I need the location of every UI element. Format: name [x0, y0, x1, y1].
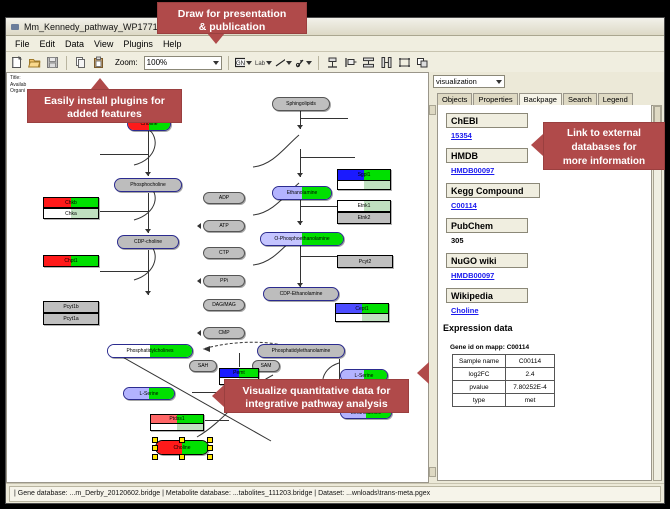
callout-draw-line1: Draw for presentation	[166, 8, 298, 21]
node-sgpl1[interactable]: Sgpl1	[337, 169, 391, 181]
selection-handle[interactable]	[207, 437, 213, 443]
node-l-serine-left[interactable]: L-Serine	[123, 387, 175, 400]
node-fill-right	[362, 314, 388, 321]
table-row: Sample name C00114	[453, 355, 555, 368]
cell-key: pvalue	[453, 381, 506, 394]
svg-text:GN: GN	[236, 61, 245, 67]
node-label: SAM	[261, 363, 272, 369]
node-phosphatidylethanolamine[interactable]: Phosphatidylethanolamine	[257, 344, 345, 358]
node-label: Choline	[174, 445, 191, 451]
cell-value: 2.4	[506, 368, 555, 381]
node-pcyt2[interactable]: Pcyt2	[337, 255, 393, 268]
node-fill-right	[364, 181, 390, 189]
cell-value: 7.80252E-4	[506, 381, 555, 394]
callout-plugins: Easily install plugins for added feature…	[27, 89, 182, 123]
node-label: O-Phosphoethanolamine	[274, 236, 329, 242]
toolbar-separator	[228, 56, 229, 70]
new-icon[interactable]	[9, 55, 24, 70]
tab-legend[interactable]: Legend	[598, 93, 633, 105]
interaction-tool[interactable]	[295, 55, 312, 70]
node-label: Phosphatidylethanolamine	[272, 348, 331, 354]
visualization-value: visualization	[436, 77, 477, 86]
db-link-nugo[interactable]: HMDB00097	[451, 271, 651, 280]
align-left-icon[interactable]	[343, 55, 358, 70]
callout-plugins-line2: added features	[36, 108, 173, 121]
node-label: Etnk1	[358, 203, 371, 209]
node-label: Pcyt1a	[63, 316, 78, 322]
menu-item-data[interactable]: Data	[60, 39, 89, 49]
node-o-phosphoethanolamine[interactable]: O-Phosphoethanolamine	[260, 232, 344, 246]
callout-links-line2: databases for	[552, 141, 656, 155]
group-icon[interactable]	[397, 55, 412, 70]
node-label: ATP	[219, 223, 228, 229]
callout-draw: Draw for presentation & publication	[157, 2, 307, 34]
db-header-wikipedia: Wikipedia	[446, 288, 528, 303]
edge-etnk-backbone	[300, 157, 355, 158]
chevron-down-icon	[266, 61, 272, 65]
distribute-vertical-icon[interactable]	[361, 55, 376, 70]
toolbar: Zoom: 100% GN Label	[6, 52, 664, 74]
expression-table: Sample name C00114 log2FC 2.4 pvalue 7.8…	[452, 354, 555, 407]
order-icon[interactable]	[415, 55, 430, 70]
menu-item-view[interactable]: View	[89, 39, 118, 49]
node-label: DAG/MAG	[212, 302, 236, 308]
node-etnk1[interactable]: Etnk1	[337, 200, 391, 212]
menu-bar: File Edit Data View Plugins Help	[6, 36, 664, 52]
chevron-down-icon	[213, 61, 219, 65]
align-center-icon[interactable]	[325, 55, 340, 70]
cell-key: type	[453, 394, 506, 407]
node-ptdss1-lower[interactable]	[150, 424, 204, 431]
selection-handle[interactable]	[152, 454, 158, 460]
menu-item-plugins[interactable]: Plugins	[118, 39, 158, 49]
node-adp[interactable]: ADP	[203, 192, 245, 204]
edge-sgpl1-backbone	[300, 118, 348, 119]
callout-links-pointer	[531, 134, 543, 156]
node-cdp-choline[interactable]: CDP-choline	[117, 235, 179, 249]
tab-scroll-down-button[interactable]	[429, 467, 436, 477]
selection-handle[interactable]	[152, 437, 158, 443]
node-label: CDP-Ethanolamine	[280, 291, 323, 297]
zoom-label: Zoom:	[115, 58, 138, 67]
node-phosphocholine[interactable]: Phosphocholine	[114, 178, 182, 192]
callout-expression-pointer	[417, 362, 429, 384]
node-label: CMP	[218, 330, 229, 336]
node-label: Ptdss1	[169, 416, 184, 422]
save-icon[interactable]	[45, 55, 60, 70]
node-fill-left	[338, 181, 364, 189]
db-header-nugo: NuGO wiki	[446, 253, 528, 268]
node-dag-mag[interactable]: DAG/MAG	[203, 299, 245, 311]
tab-properties[interactable]: Properties	[473, 93, 517, 105]
callout-links-line3: more information	[552, 155, 656, 169]
node-fill-left	[151, 424, 177, 430]
node-label: SAH	[198, 363, 208, 369]
status-bar: | Gene database: ...m_Derby_20120602.bri…	[6, 483, 664, 503]
meta-organism: Organi	[10, 88, 26, 95]
node-label: L-Serine	[355, 373, 374, 379]
node-atp[interactable]: ATP	[203, 220, 245, 232]
node-label: Chkb	[65, 200, 77, 206]
node-sah[interactable]: SAH	[189, 360, 217, 372]
node-label: Sgpl1	[358, 172, 371, 178]
status-text: | Gene database: ...m_Derby_20120602.bri…	[9, 486, 661, 502]
node-label: ADP	[219, 195, 229, 201]
db-header-chebi: ChEBI	[446, 113, 528, 128]
pathway-meta: Title: Availab Organi	[10, 75, 26, 95]
line-tool[interactable]	[275, 55, 292, 70]
zoom-select[interactable]: 100%	[144, 56, 222, 70]
arrow-left	[197, 330, 201, 336]
selection-handle[interactable]	[179, 437, 185, 443]
menu-item-edit[interactable]: Edit	[35, 39, 61, 49]
node-sgpl1-lower[interactable]	[337, 181, 391, 190]
callout-draw-line2: & publication	[166, 21, 298, 34]
edge-ptdss1-stub	[205, 420, 229, 421]
node-cdp-ethanolamine[interactable]: CDP-Ethanolamine	[263, 287, 339, 301]
table-row: pvalue 7.80252E-4	[453, 381, 555, 394]
selection-handle[interactable]	[207, 454, 213, 460]
node-chkb[interactable]: Chkb	[43, 197, 99, 208]
node-label: Etnk2	[358, 215, 371, 221]
chevron-down-icon	[286, 61, 292, 65]
tab-objects[interactable]: Objects	[437, 93, 472, 105]
node-ppi[interactable]: PPi	[203, 275, 245, 287]
callout-visualize-line2: integrative pathway analysis	[233, 398, 400, 411]
node-fill-left	[336, 314, 362, 321]
node-label: Sphingolipids	[286, 101, 316, 107]
node-label: CDP-choline	[134, 239, 162, 245]
zoom-value: 100%	[147, 58, 167, 67]
side-panel-tabs: Objects Properties Backpage Search Legen…	[437, 92, 660, 106]
label-tool[interactable]: Label	[255, 55, 272, 70]
node-label: CTP	[219, 250, 229, 256]
node-chka[interactable]: Chka	[43, 208, 99, 219]
svg-text:Label: Label	[255, 61, 265, 67]
tab-search[interactable]: Search	[563, 93, 597, 105]
selection-handle[interactable]	[179, 454, 185, 460]
node-fill-right	[177, 424, 203, 430]
pathway-canvas[interactable]: Title: Availab Organi	[6, 72, 429, 483]
node-cept1[interactable]: Cept1	[335, 303, 389, 314]
callout-links: Link to external databases for more info…	[543, 122, 665, 170]
db-header-kegg: Kegg Compound	[446, 183, 540, 198]
callout-visualize: Visualize quantitative data for integrat…	[224, 379, 409, 413]
toolbar-separator	[66, 56, 67, 70]
arrow-left	[197, 223, 201, 229]
callout-plugins-pointer	[91, 78, 109, 89]
cell-value: C00114	[506, 355, 555, 368]
distribute-horizontal-icon[interactable]	[379, 55, 394, 70]
callout-visualize-line1: Visualize quantitative data for	[233, 385, 400, 398]
node-label: Phosphocholine	[130, 182, 166, 188]
db-header-pubchem: PubChem	[446, 218, 528, 233]
callout-visualize-pointer	[212, 385, 224, 407]
db-link-wikipedia[interactable]: Choline	[451, 306, 651, 315]
db-link-kegg[interactable]: C00114	[451, 201, 651, 210]
callout-plugins-line1: Easily install plugins for	[36, 95, 173, 108]
pathvisio-window: Mm_Kennedy_pathway_WP1771_45176.gpml Fil…	[5, 17, 665, 504]
chevron-down-icon	[246, 61, 252, 65]
node-chpt1[interactable]: Chpt1	[43, 255, 99, 267]
node-pcyt1a[interactable]: Pcyt1a	[43, 313, 99, 325]
node-etnk2[interactable]: Etnk2	[337, 212, 391, 224]
app-icon	[10, 22, 20, 32]
node-cmp[interactable]: CMP	[203, 327, 245, 339]
node-label: Pemt	[233, 370, 245, 376]
toolbar-separator	[318, 56, 319, 70]
chevron-down-icon	[496, 80, 502, 84]
node-pemt[interactable]: Pemt	[219, 368, 259, 378]
visualization-select[interactable]: visualization	[433, 75, 505, 88]
node-label: Cept1	[355, 306, 368, 312]
copy-icon[interactable]	[73, 55, 88, 70]
node-label: Phosphatidylcholines	[127, 348, 174, 354]
chevron-down-icon	[306, 61, 312, 65]
node-ptdss1[interactable]: Ptdss1	[150, 414, 204, 424]
datanode-tool[interactable]: GN	[235, 55, 252, 70]
open-icon[interactable]	[27, 55, 42, 70]
expression-data-title: Expression data	[443, 323, 651, 333]
gene-id-on-mapp: Gene id on mapp: C00114	[450, 344, 651, 351]
node-cept1-lower[interactable]	[335, 314, 389, 322]
node-ethanolamine[interactable]: Ethanolamine	[272, 186, 332, 200]
node-label: Ethanolamine	[287, 190, 318, 196]
node-label: Pcyt1b	[63, 304, 78, 310]
node-label: Chpt1	[64, 258, 77, 264]
callout-draw-pointer	[207, 33, 225, 44]
db-value-pubchem: 305	[451, 236, 651, 245]
node-sphingolipids[interactable]: Sphingolipids	[272, 97, 330, 111]
node-label: Chka	[65, 211, 77, 217]
menu-item-help[interactable]: Help	[158, 39, 187, 49]
cell-key: log2FC	[453, 368, 506, 381]
cell-key: Sample name	[453, 355, 506, 368]
node-label: Pcyt2	[359, 259, 372, 265]
node-ctp[interactable]: CTP	[203, 247, 245, 259]
node-label: L-Serine	[140, 391, 159, 397]
title-bar: Mm_Kennedy_pathway_WP1771_45176.gpml	[6, 18, 664, 36]
cofactor-arcs-etn-1	[239, 133, 305, 177]
arrow-left	[197, 278, 201, 284]
menu-item-file[interactable]: File	[10, 39, 35, 49]
table-row: type met	[453, 394, 555, 407]
selection-handle[interactable]	[152, 445, 158, 451]
callout-links-line1: Link to external	[552, 127, 656, 141]
node-label: PPi	[220, 278, 228, 284]
cofactor-arcs-choline-1	[102, 125, 162, 177]
tab-scroll-up-button[interactable]	[429, 105, 436, 115]
selection-handle[interactable]	[207, 445, 213, 451]
paste-icon[interactable]	[91, 55, 106, 70]
arrow-down	[297, 125, 303, 129]
db-header-hmdb: HMDB	[446, 148, 528, 163]
table-row: log2FC 2.4	[453, 368, 555, 381]
node-pcyt1b[interactable]: Pcyt1b	[43, 301, 99, 313]
cell-value: met	[506, 394, 555, 407]
node-phosphatidylcholines[interactable]: Phosphatidylcholines	[107, 344, 193, 358]
